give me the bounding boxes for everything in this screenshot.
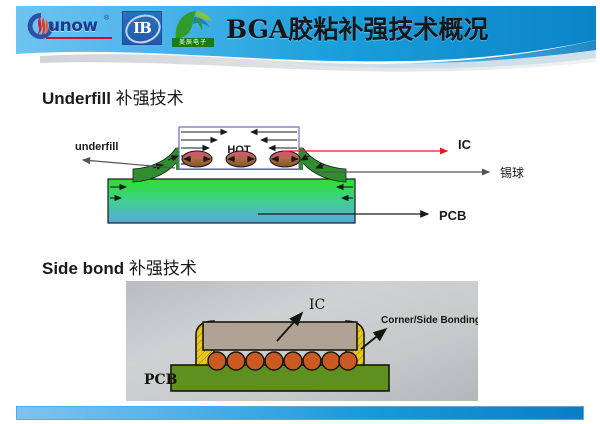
page-title: BGA胶粘补强技术概况 bbox=[226, 10, 488, 46]
heading-underfill: Underfill 补强技术 bbox=[42, 84, 184, 109]
pcb-label: PCB bbox=[144, 372, 178, 388]
solder-ball bbox=[226, 151, 256, 167]
solder-ball bbox=[208, 352, 226, 370]
pcb-substrate bbox=[108, 179, 355, 223]
footer-bar bbox=[16, 406, 584, 420]
ib-letters: IB bbox=[133, 19, 151, 37]
leaf-logo-caption: 美辰电子 bbox=[172, 38, 214, 47]
solder-ball bbox=[284, 352, 302, 370]
unow-logo: unow ® bbox=[26, 10, 114, 46]
corner-side-bonding-label: Corner/Side Bonding bbox=[381, 315, 478, 326]
solder-ball bbox=[182, 151, 212, 167]
ic-callout: IC bbox=[283, 137, 472, 152]
solder-ball bbox=[322, 352, 340, 370]
unow-registered-mark: ® bbox=[104, 15, 109, 22]
solder-ball bbox=[339, 352, 357, 370]
ib-logo: IB bbox=[122, 11, 162, 45]
green-leaf-icon bbox=[170, 9, 216, 41]
ic-label: IC bbox=[458, 137, 472, 152]
heading-underfill-cn: 补强技术 bbox=[116, 89, 184, 109]
solder-ball bbox=[265, 352, 283, 370]
sidebond-pcb bbox=[171, 365, 389, 391]
ic-die bbox=[203, 322, 357, 350]
unow-underline bbox=[46, 37, 112, 39]
ic-label: IC bbox=[309, 297, 325, 313]
solder-ball-label: 锡球 bbox=[500, 165, 524, 180]
pcb-label: PCB bbox=[439, 208, 466, 223]
heading-sidebond-cn: 补强技术 bbox=[129, 259, 197, 279]
header-banner: unow ® IB 美辰电子 BGA胶粘补强技术概况 bbox=[0, 0, 600, 72]
heading-underfill-en: Underfill bbox=[42, 89, 116, 108]
underfill-diagram: HOT bbox=[75, 124, 575, 239]
solder-ball bbox=[227, 352, 245, 370]
heading-sidebond-en: Side bond bbox=[42, 259, 129, 278]
header-content: unow ® IB 美辰电子 BGA胶粘补强技术概况 bbox=[0, 0, 600, 56]
sidebond-photo: IC Corner/Side Bonding PCB bbox=[126, 281, 478, 401]
solder-ball bbox=[270, 151, 300, 167]
solder-ball bbox=[246, 352, 264, 370]
solder-balls bbox=[182, 151, 300, 167]
solder-ball bbox=[303, 352, 321, 370]
leaf-logo: 美辰电子 bbox=[170, 9, 216, 47]
heading-sidebond: Side bond 补强技术 bbox=[42, 254, 197, 279]
underfill-label: underfill bbox=[75, 141, 118, 153]
unow-wordmark: unow bbox=[48, 16, 98, 36]
